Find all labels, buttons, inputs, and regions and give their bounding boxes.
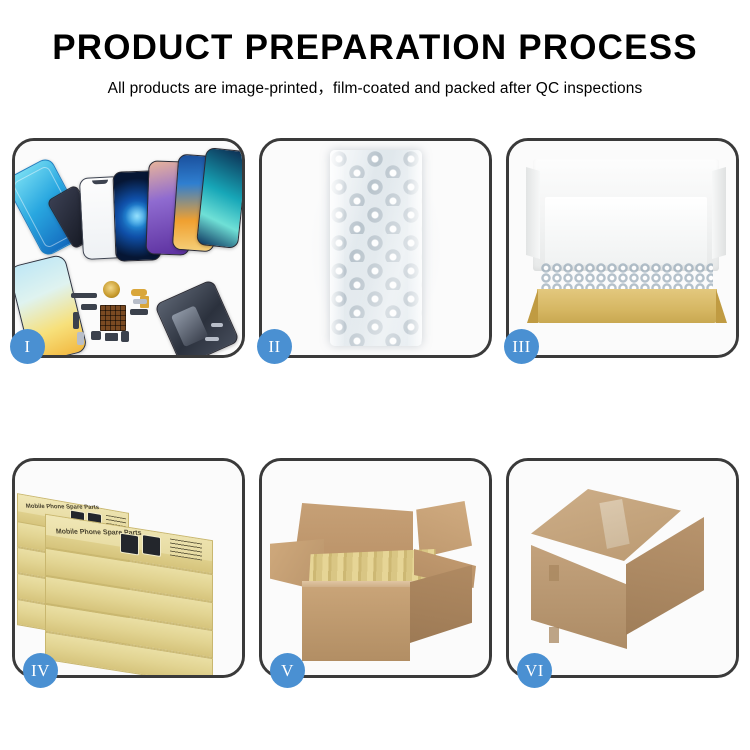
step-badge-1: I [10,329,45,364]
step-badge-5: V [270,653,305,688]
step-panel-1: I [12,138,245,358]
sealed-carton-front [531,545,627,649]
tweezers-icon [211,323,223,327]
step-image-6 [509,461,736,675]
step-badge-6: VI [517,653,552,688]
step-panel-2: II [259,138,492,358]
speaker-module-icon [105,333,118,341]
speaker-coil-icon [103,281,120,298]
step-badge-3: III [504,329,539,364]
screwdriver-icon [205,337,219,341]
page-title: PRODUCT PREPARATION PROCESS [0,30,750,67]
step-image-5 [262,461,489,675]
vibrator-motor-icon [91,331,101,340]
step-image-3 [509,141,736,355]
step-image-1 [15,141,242,355]
page-subtitle: All products are image-printed，film-coat… [0,76,750,98]
carton-front-panel [302,587,410,661]
process-steps-grid: I II III [12,138,738,678]
retail-box-stack: Mobile Phone Spare Parts Mobile Phone Sp… [15,461,242,675]
button-flex-icon [121,331,129,342]
step-panel-4: Mobile Phone Spare Parts Mobile Phone Sp… [12,458,245,678]
box-screen-graphic-b [142,534,161,557]
earpiece-mesh-icon [71,293,97,298]
step-image-4: Mobile Phone Spare Parts Mobile Phone Sp… [15,461,242,675]
logic-board-icon [100,305,126,331]
inner-box-front-panel [537,289,717,323]
step-badge-2: II [257,329,292,364]
step-panel-3: III [506,138,739,358]
step-panel-5: V [259,458,492,678]
connector-strip-icon [81,304,97,310]
step-image-2 [262,141,489,355]
box-brand-label: Mobile Phone Spare Parts [26,504,100,511]
camera-flex-icon [73,312,79,329]
sim-pin-icon [77,332,84,345]
sim-tray-icon [133,299,147,304]
wrap-fold-left [330,150,344,346]
box-screen-graphic-a [120,533,139,556]
inner-box-back-wall [545,197,707,265]
bubble-wrapped-package [330,150,422,346]
phone-back-housing-icon [154,279,240,355]
page-header: PRODUCT PREPARATION PROCESS All products… [0,0,750,98]
flex-cable-icon [131,289,147,296]
wrap-fold-right [408,150,422,346]
carton-seam-upper [549,565,559,581]
antenna-flex-icon [130,309,148,315]
carton-seam-lower [549,627,559,643]
phone-parts-scene [15,141,242,355]
step-panel-6: VI [506,458,739,678]
step-badge-4: IV [23,653,58,688]
